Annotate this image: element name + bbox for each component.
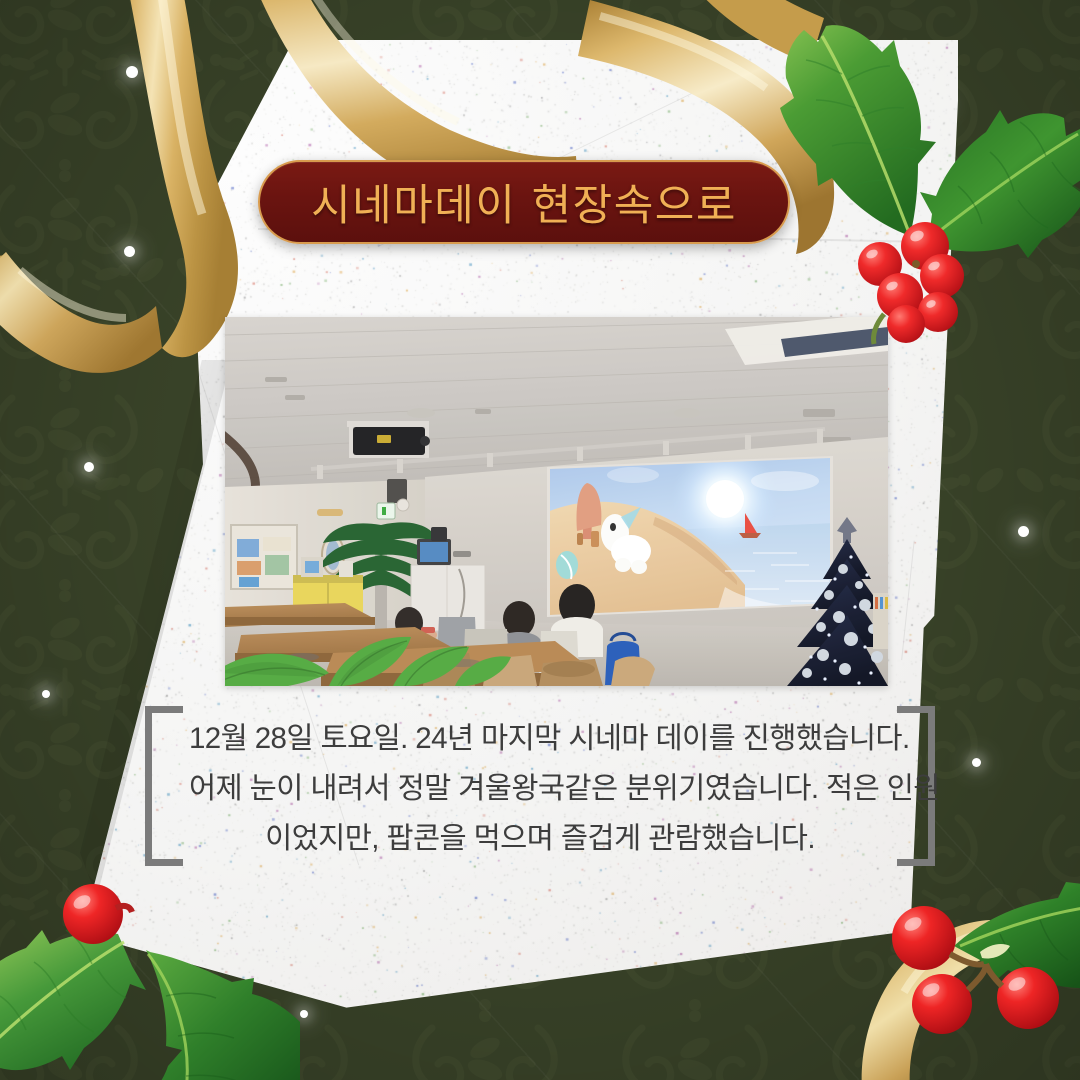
caption-line-1: 12월 28일 토요일. 24년 마지막 시네마 데이를 진행했습니다. bbox=[189, 714, 891, 764]
event-photo bbox=[225, 317, 888, 686]
event-photo-illustration bbox=[225, 317, 888, 686]
caption-line-2: 어제 눈이 내려서 정말 겨울왕국같은 분위기였습니다. 적은 인원 bbox=[189, 764, 891, 814]
page-title: 시네마데이 현장속으로 bbox=[311, 171, 737, 233]
caption-line-3: 이었지만, 팝콘을 먹으며 즐겁게 관람했습니다. bbox=[189, 814, 891, 864]
caption-text: 12월 28일 토요일. 24년 마지막 시네마 데이를 진행했습니다. 어제 … bbox=[189, 714, 891, 864]
title-badge: 시네마데이 현장속으로 bbox=[258, 160, 790, 244]
poster-canvas: 시네마데이 현장속으로 bbox=[0, 0, 1080, 1080]
caption-block: 12월 28일 토요일. 24년 마지막 시네마 데이를 진행했습니다. 어제 … bbox=[145, 700, 935, 875]
bracket-left-icon bbox=[145, 706, 183, 866]
